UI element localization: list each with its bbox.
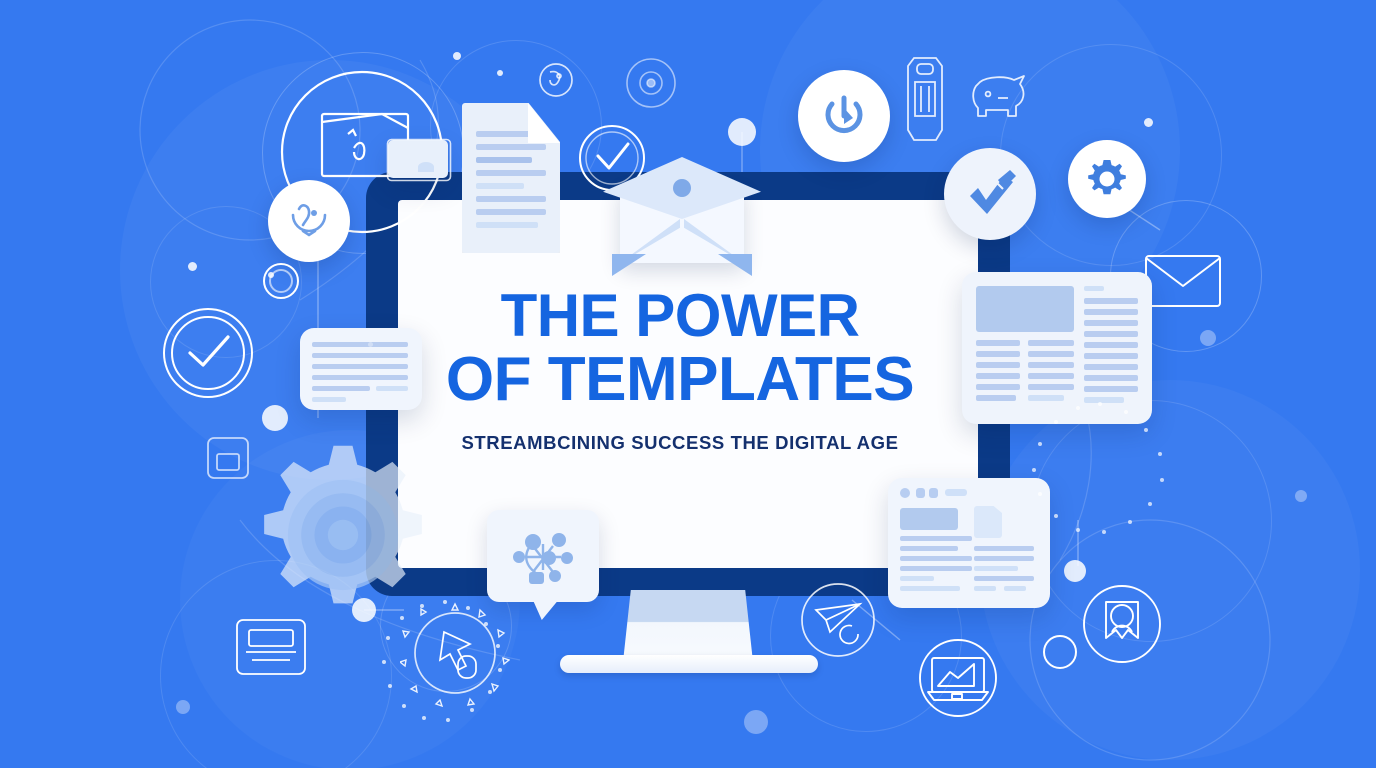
monitor-stand-neck — [623, 590, 753, 662]
check-pen-icon — [944, 148, 1036, 240]
envelope-seal-dot — [673, 179, 691, 197]
monitor-stand-base — [560, 655, 818, 673]
circle-outline-icon — [258, 258, 304, 304]
page-title-line-1: THE POWER — [400, 286, 960, 346]
network-glyph — [499, 522, 587, 592]
network-bubble-tail — [532, 598, 560, 620]
lens-outline-icon — [620, 52, 682, 114]
power-glyph — [814, 86, 874, 146]
battery-meter-icon — [900, 52, 950, 150]
award-user-icon — [1074, 576, 1170, 672]
decor-dot — [453, 52, 461, 60]
tag-outline-icon — [534, 58, 578, 102]
decor-dot — [176, 700, 190, 714]
compass-glyph — [281, 193, 337, 249]
decor-dot — [497, 70, 503, 76]
decor-ring — [1030, 400, 1272, 642]
network-bubble-icon — [487, 510, 599, 602]
decor-dot — [268, 272, 274, 278]
piggy-bank-icon — [968, 72, 1030, 120]
decor-dot — [1200, 330, 1216, 346]
webpage-document-card — [888, 478, 1050, 608]
envelope-outline-icon — [1140, 248, 1226, 314]
gear-icon — [1068, 140, 1146, 218]
decor-dot — [188, 262, 197, 271]
decor-dot — [1295, 490, 1307, 502]
thumbnail-card — [388, 140, 448, 178]
check-pen-glyph — [958, 162, 1022, 226]
circle-outline-icon — [1038, 630, 1082, 674]
page-subtitle: STREAMBCINING SUCCESS THE DIGITAL AGE — [400, 432, 960, 454]
gear-glyph — [1082, 154, 1132, 204]
decor-dot — [744, 710, 768, 734]
decor-dot — [1144, 118, 1153, 127]
poster-canvas: THE POWER OF TEMPLATES STREAMBCINING SUC… — [0, 0, 1376, 768]
text-lines-card — [300, 328, 422, 410]
page-title-line-2: OF TEMPLATES — [400, 350, 960, 410]
presentation-icon — [910, 630, 1006, 726]
compass-icon — [268, 180, 350, 262]
checkmark-circle-icon — [160, 305, 256, 401]
decor-dot — [728, 118, 756, 146]
decor-dot — [1064, 560, 1086, 582]
title-block: THE POWER OF TEMPLATES STREAMBCINING SUC… — [400, 286, 960, 454]
power-refresh-icon — [798, 70, 890, 162]
gear-large-icon — [248, 440, 438, 630]
envelope-open-icon — [603, 157, 761, 263]
newspaper-article-card — [962, 272, 1152, 424]
decor-dot — [262, 405, 288, 431]
